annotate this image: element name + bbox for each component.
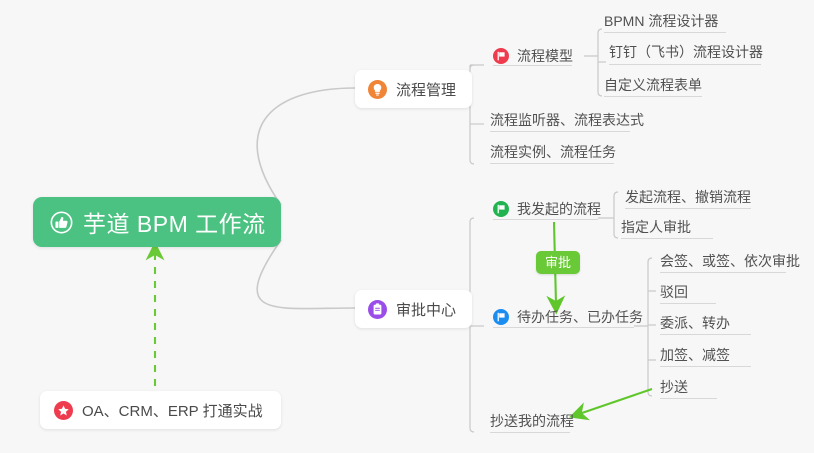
- wire-process-model-bracket: [584, 29, 602, 96]
- wire-root-to-approval-center: [257, 240, 355, 309]
- underline-process-listener-expression: [490, 131, 630, 132]
- underline-add-remove-sign: [660, 366, 751, 367]
- leaf-custom-process-form[interactable]: 自定义流程表单: [604, 76, 702, 98]
- star-icon: [54, 401, 73, 420]
- leaf-countersign-orsign-sequential-label: 会签、或签、依次审批: [660, 253, 800, 269]
- node-process-management[interactable]: 流程管理: [355, 70, 472, 108]
- node-approval-center-label: 审批中心: [396, 299, 456, 320]
- node-my-initiated-process-label: 我发起的流程: [517, 200, 601, 218]
- leaf-countersign-orsign-sequential[interactable]: 会签、或签、依次审批: [660, 252, 800, 274]
- leaf-dingtalk-feishu-designer[interactable]: 钉钉（飞书）流程设计器: [609, 43, 763, 65]
- underline-custom-process-form: [604, 96, 702, 97]
- node-todo-done-tasks-label: 待办任务、已办任务: [517, 308, 643, 326]
- leaf-cc-label: 抄送: [660, 379, 688, 395]
- node-approval-center[interactable]: 审批中心: [355, 290, 472, 328]
- node-process-management-label: 流程管理: [396, 79, 456, 100]
- lightbulb-icon: [368, 80, 387, 99]
- node-integration-practice-label: OA、CRM、ERP 打通实战: [82, 400, 263, 421]
- underline-countersign-orsign-sequential: [660, 272, 786, 273]
- underline-dingtalk-feishu-designer: [609, 64, 761, 65]
- leaf-assignee-approval[interactable]: 指定人审批: [621, 218, 691, 240]
- leaf-assignee-approval-label: 指定人审批: [621, 219, 691, 235]
- underline-start-cancel-process: [625, 208, 751, 209]
- underline-process-instance-task: [490, 163, 614, 164]
- leaf-delegate-transfer[interactable]: 委派、转办: [660, 314, 730, 336]
- node-process-listener-expression[interactable]: 流程监听器、流程表达式: [490, 111, 644, 133]
- underline-process-model: [493, 65, 572, 66]
- leaf-custom-process-form-label: 自定义流程表单: [604, 77, 702, 93]
- leaf-dingtalk-feishu-designer-label: 钉钉（飞书）流程设计器: [609, 44, 763, 60]
- underline-my-initiated-process: [493, 219, 598, 220]
- leaf-cc[interactable]: 抄送: [660, 378, 688, 400]
- leaf-start-cancel-process[interactable]: 发起流程、撤销流程: [625, 188, 751, 210]
- leaf-reject-label: 驳回: [660, 284, 688, 300]
- underline-assignee-approval: [621, 238, 713, 239]
- leaf-bpmn-designer-label: BPMN 流程设计器: [604, 13, 718, 29]
- node-process-instance-task-label: 流程实例、流程任务: [490, 144, 616, 160]
- wire-process-model-stub: [470, 65, 484, 69]
- node-cc-to-me-process-label: 抄送我的流程: [490, 413, 574, 429]
- root-node[interactable]: 芋道 BPM 工作流: [33, 197, 281, 247]
- underline-delegate-transfer: [660, 334, 751, 335]
- clipboard-icon: [368, 300, 387, 319]
- thumbs-up-icon: [50, 211, 73, 234]
- leaf-bpmn-designer[interactable]: BPMN 流程设计器: [604, 12, 718, 34]
- underline-reject: [660, 303, 716, 304]
- node-process-model-label: 流程模型: [517, 47, 573, 65]
- underline-bpmn-designer: [604, 32, 726, 33]
- node-integration-practice[interactable]: OA、CRM、ERP 打通实战: [40, 391, 281, 429]
- node-process-instance-task[interactable]: 流程实例、流程任务: [490, 143, 616, 165]
- arrow-cc-to-cc-my-process: [579, 389, 652, 414]
- underline-cc: [660, 398, 717, 399]
- wire-root-to-process-management: [257, 88, 355, 205]
- approval-badge: 审批: [536, 251, 580, 274]
- root-label: 芋道 BPM 工作流: [83, 205, 266, 239]
- leaf-delegate-transfer-label: 委派、转办: [660, 315, 730, 331]
- leaf-add-remove-sign[interactable]: 加签、减签: [660, 346, 730, 368]
- flag-icon: [493, 48, 509, 64]
- leaf-start-cancel-process-label: 发起流程、撤销流程: [625, 189, 751, 205]
- flag-icon: [493, 309, 509, 325]
- flag-icon: [493, 201, 509, 217]
- node-cc-to-me-process[interactable]: 抄送我的流程: [490, 412, 574, 434]
- leaf-reject[interactable]: 驳回: [660, 283, 688, 305]
- wire-my-initiated-bracket: [598, 192, 618, 238]
- mindmap-canvas: 芋道 BPM 工作流 流程管理 流程模型 流程监听器、流程表达式 流程实例、流程…: [0, 0, 814, 453]
- node-process-listener-expression-label: 流程监听器、流程表达式: [490, 112, 644, 128]
- underline-cc-to-me-process: [490, 432, 570, 433]
- underline-todo-done-tasks: [493, 327, 634, 328]
- leaf-add-remove-sign-label: 加签、减签: [660, 347, 730, 363]
